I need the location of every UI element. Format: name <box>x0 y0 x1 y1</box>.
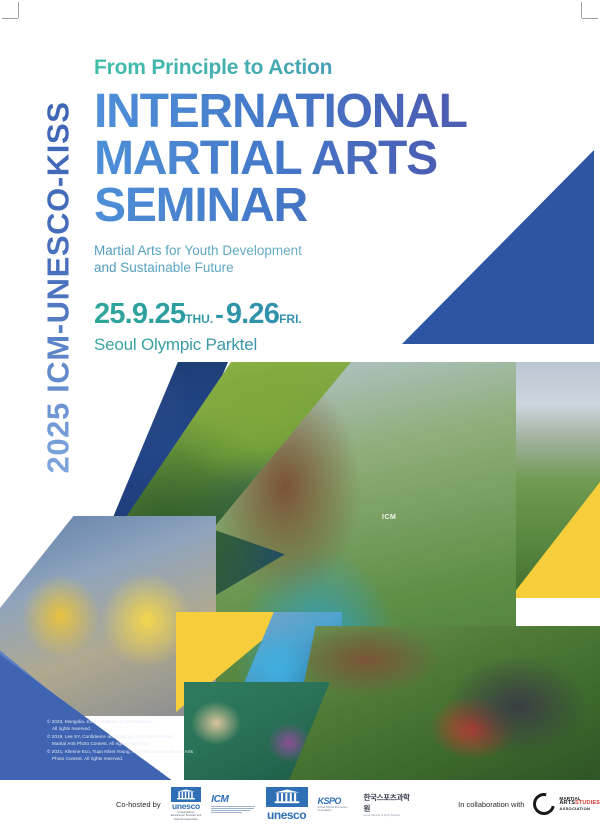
title-line-3: SEMINAR <box>94 182 564 229</box>
collaboration-label: In collaboration with <box>458 800 524 809</box>
title-line-2: MARTIAL ARTS <box>94 135 564 182</box>
copyright-line-1: © 2023, Mongolia, Korea Institute of Spo… <box>47 718 297 725</box>
copyright-line-3: © 2019, Lee SY, Confidence and Courage, … <box>47 733 297 740</box>
unesco-logo-small: unesco United Nations Educational, Scien… <box>170 787 203 822</box>
icm-wordmark: ICM <box>211 794 255 805</box>
icm-subtitle-lines <box>211 806 255 814</box>
event-date: 25.9.25THU.-9.26FRI. <box>94 298 564 331</box>
crop-mark-top-left <box>2 18 18 19</box>
photo-layer <box>284 626 600 780</box>
martial-arts-studies-association-logo: MARTIAL ARTSSTUDIES ASSOCIATION <box>533 793 600 815</box>
tagline-line-1: Martial Arts for Youth Development <box>94 242 564 259</box>
copyright-line-5: © 2021, Klienne Eco, Tuan Nhiet Young, I… <box>47 748 297 755</box>
kicker-text: From Principle to Action <box>94 56 564 79</box>
photo-collage: ICM <box>0 348 600 780</box>
crop-mark-top-right <box>582 18 598 19</box>
copyright-notice: © 2023, Mongolia, Korea Institute of Spo… <box>47 718 297 763</box>
title-line-1: INTERNATIONAL <box>94 88 564 135</box>
icm-logo: ICM <box>211 794 255 814</box>
tagline-line-2: and Sustainable Future <box>94 259 564 276</box>
date-end-day: FRI. <box>279 312 302 326</box>
unesco-wordmark: unesco <box>172 802 200 811</box>
copyright-line-4: Martial Arts Photo Contest. All rights r… <box>47 740 297 747</box>
unesco-subtitle-line-3: Cultural Organization <box>174 818 198 822</box>
masa-ring-icon <box>529 789 559 819</box>
unesco-logo-large: unesco <box>264 787 308 822</box>
masa-line-3: ASSOCIATION <box>559 807 600 811</box>
date-end: 9.26 <box>226 298 279 330</box>
copyright-line-6: Photo Contest. All rights reserved. <box>47 755 297 762</box>
crop-mark-top-left <box>18 2 19 18</box>
shirt-icm-logo: ICM <box>382 514 396 521</box>
poster-header: From Principle to Action INTERNATIONAL M… <box>94 56 564 355</box>
poster-canvas: 2025 ICM-UNESCO-KISS From Principle to A… <box>0 0 600 837</box>
page-title: INTERNATIONAL MARTIAL ARTS SEMINAR <box>94 88 564 229</box>
kspo-subtitle: Korea Sports Promotion Foundation <box>318 806 361 813</box>
collage-photo-kick-pad <box>284 626 600 780</box>
masa-wordmark: MARTIAL ARTSSTUDIES ASSOCIATION <box>559 797 600 812</box>
cohosted-by-label: Co-hosted by <box>116 800 161 809</box>
kiss-korean-name: 한국스포츠과학원 <box>363 792 414 814</box>
date-separator: - <box>213 299 226 329</box>
unesco-temple-icon <box>266 787 308 807</box>
date-start-day: THU. <box>185 312 213 326</box>
poster-footer: Co-hosted by unesco United Nations <box>0 784 600 837</box>
kiss-english-name: Korea Institute of Sport Science <box>363 814 414 817</box>
tagline: Martial Arts for Youth Development and S… <box>94 242 564 277</box>
crop-mark-top-right <box>581 2 582 18</box>
date-start: 25.9.25 <box>94 298 185 330</box>
unesco-wordmark: unesco <box>267 808 306 822</box>
kspo-logo: KSPO Korea Sports Promotion Foundation 한… <box>318 792 414 817</box>
copyright-line-2: All rights reserved. <box>47 725 297 732</box>
unesco-temple-icon <box>171 787 201 802</box>
